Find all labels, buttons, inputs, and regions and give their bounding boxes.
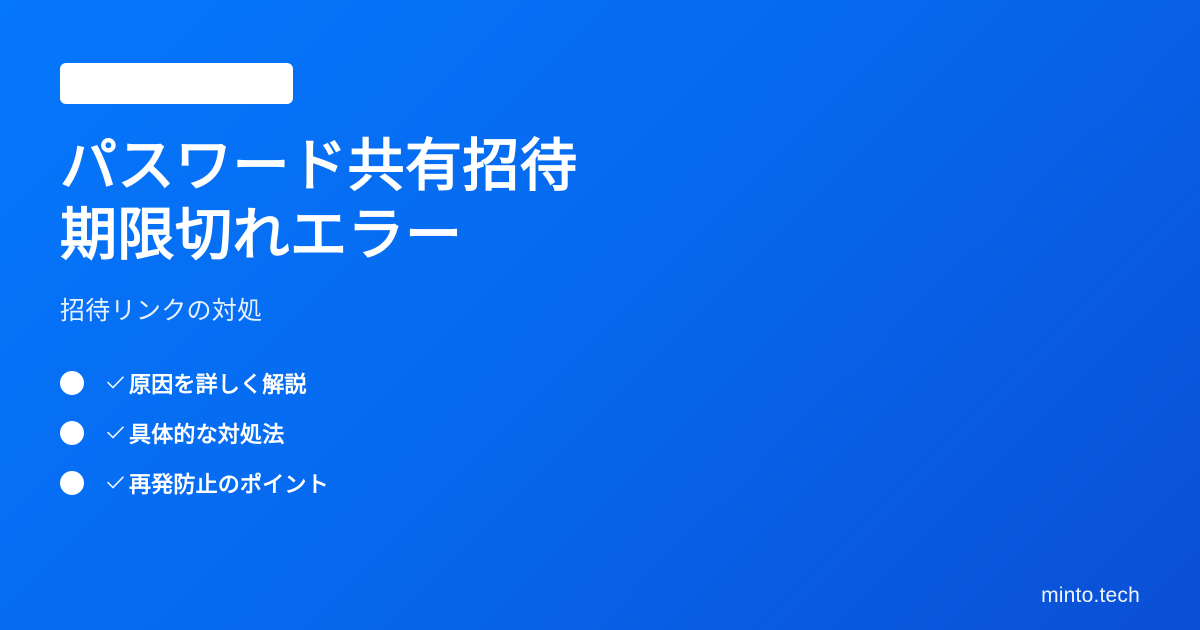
list-item: 具体的な対処法	[60, 420, 1140, 445]
category-badge	[60, 63, 293, 104]
list-item: 再発防止のポイント	[60, 470, 1140, 495]
list-item: 原因を詳しく解説	[60, 370, 1140, 395]
bullet-dot-icon	[60, 371, 84, 395]
brand-footer: minto.tech	[1041, 584, 1140, 608]
feature-label: 原因を詳しく解説	[129, 367, 307, 399]
page-title: パスワード共有招待 期限切れエラー	[60, 132, 1140, 270]
page-title-line-1: パスワード共有招待	[60, 132, 1140, 201]
feature-label: 再発防止のポイント	[129, 467, 329, 499]
check-icon	[101, 476, 129, 489]
bullet-dot-icon	[60, 471, 84, 495]
card-content: パスワード共有招待 期限切れエラー 招待リンクの対処 原因を詳しく解説	[60, 63, 1140, 495]
page-subtitle: 招待リンクの対処	[60, 295, 1140, 328]
check-icon	[101, 426, 129, 439]
feature-list: 原因を詳しく解説 具体的な対処法 再発防止のポイント	[60, 370, 1140, 495]
page-title-line-2: 期限切れエラー	[60, 201, 1140, 270]
check-icon	[101, 376, 129, 389]
bullet-dot-icon	[60, 421, 84, 445]
feature-label: 具体的な対処法	[129, 417, 284, 449]
ogp-card: パスワード共有招待 期限切れエラー 招待リンクの対処 原因を詳しく解説	[0, 0, 1200, 630]
